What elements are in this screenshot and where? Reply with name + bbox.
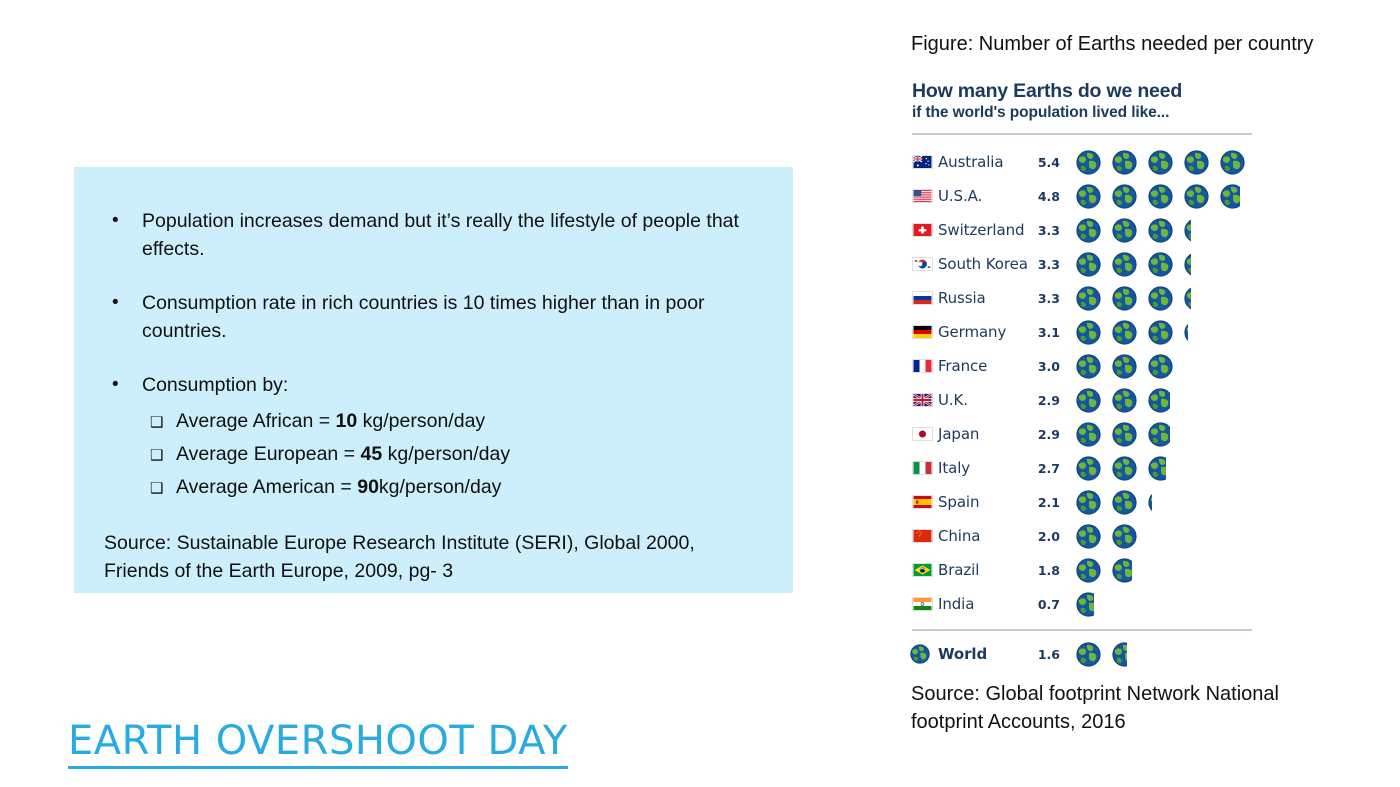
bullet-text: Consumption by: [142, 371, 288, 399]
country-label: U.K. [938, 391, 1030, 409]
earth-globe-icon [1112, 218, 1137, 243]
earth-globe-icon [1112, 150, 1137, 175]
earth-icons [1066, 639, 1256, 669]
country-label: France [938, 357, 1030, 375]
flag-brazil [908, 563, 938, 577]
earth-icons [1066, 453, 1256, 483]
flag-uk [908, 393, 938, 407]
list-item-value: 45 [361, 443, 383, 465]
earth-globe-icon [1148, 286, 1173, 311]
earth-globe-icon [1076, 320, 1101, 345]
earth-icons [1066, 283, 1256, 313]
figure-caption: Figure: Number of Earths needed per coun… [911, 30, 1313, 58]
list-item-label: Average European = [176, 443, 361, 465]
table-row: Germany3.1 [908, 315, 1256, 349]
earth-icons [1066, 385, 1256, 415]
country-value: 3.1 [1030, 325, 1066, 340]
bullet-text: Population increases demand but it’s rea… [142, 207, 742, 263]
country-value: 2.0 [1030, 529, 1066, 544]
earth-globe-icon [1076, 286, 1101, 311]
bullet-marker-icon: • [104, 289, 142, 317]
flag-italy [908, 461, 938, 475]
earth-globe-icon [1076, 490, 1101, 515]
country-rows: Australia5.4U.S.A.4.8Switzerland3.3South… [908, 145, 1256, 621]
earth-globe-icon [1076, 184, 1101, 209]
flag-germany [908, 325, 938, 339]
flag-japan [908, 427, 938, 441]
country-value: 3.3 [1030, 291, 1066, 306]
left-source-citation: Source: Sustainable Europe Research Inst… [104, 529, 744, 585]
country-label: Australia [938, 153, 1030, 171]
earth-globe-icon [1148, 252, 1173, 277]
earth-icons [1066, 555, 1256, 585]
earth-globe-icon [1220, 150, 1245, 175]
flag-india [908, 597, 938, 611]
table-row: Russia3.3 [908, 281, 1256, 315]
earth-icons [1066, 215, 1256, 245]
country-value: 2.7 [1030, 461, 1066, 476]
list-item-text: Average American = 90kg/person/day [176, 473, 501, 501]
country-label: South Korea [938, 255, 1030, 273]
earth-globe-icon [1112, 354, 1137, 379]
earth-icons [1066, 249, 1256, 279]
country-label: Russia [938, 289, 1030, 307]
earth-globe-icon [1112, 388, 1137, 413]
country-value: 2.9 [1030, 427, 1066, 442]
table-row: Japan2.9 [908, 417, 1256, 451]
earth-globe-icon [1112, 524, 1137, 549]
country-value: 5.4 [1030, 155, 1066, 170]
earth-globe-icon [1076, 642, 1101, 667]
earth-globe-icon [1112, 422, 1137, 447]
list-item-value: 90 [357, 476, 379, 498]
country-label: Japan [938, 425, 1030, 443]
flag-south-korea [908, 257, 938, 271]
earth-globe-icon [1112, 320, 1137, 345]
earth-globe-icon [1076, 558, 1101, 583]
country-value: 1.6 [1030, 647, 1066, 662]
flag-australia [908, 155, 938, 169]
infographic-title: How many Earths do we need [908, 80, 1256, 103]
earth-globe-icon-partial [1076, 592, 1094, 617]
earth-icons [1066, 589, 1256, 619]
consumption-sub-list: ❑ Average African = 10 kg/person/day ❑ A… [104, 407, 763, 503]
page-title: EARTH OVERSHOOT DAY [68, 719, 568, 769]
earth-globe-icon [1112, 286, 1137, 311]
list-item-unit: kg/person/day [357, 410, 485, 432]
country-value: 2.1 [1030, 495, 1066, 510]
table-row: India0.7 [908, 587, 1256, 621]
earth-globe-icon [1076, 422, 1101, 447]
table-row: U.K.2.9 [908, 383, 1256, 417]
flag-china [908, 529, 938, 543]
country-label: U.S.A. [938, 187, 1030, 205]
list-item-label: Average American = [176, 476, 357, 498]
flag-russia [908, 291, 938, 305]
bullet-item: • Consumption by: [104, 371, 763, 399]
earth-globe-icon-partial [1184, 286, 1191, 311]
country-label: China [938, 527, 1030, 545]
table-row: China2.0 [908, 519, 1256, 553]
bullet-text: Consumption rate in rich countries is 10… [142, 289, 742, 345]
flag-usa [908, 189, 938, 203]
country-value: 0.7 [1030, 597, 1066, 612]
earth-globe-icon [1148, 218, 1173, 243]
country-label: India [938, 595, 1030, 613]
earth-globe-icon-partial [1184, 218, 1191, 243]
earth-icons [1066, 521, 1256, 551]
earth-globe-icon-partial [1112, 558, 1132, 583]
earth-globe-icon [1148, 320, 1173, 345]
list-item-unit: kg/person/day [379, 476, 502, 498]
earths-needed-infographic: How many Earths do we need if the world'… [908, 80, 1256, 671]
table-row: Brazil1.8 [908, 553, 1256, 587]
earth-globe-icon [1112, 456, 1137, 481]
earth-globe-icon-partial [1184, 252, 1191, 277]
right-source-citation: Source: Global footprint Network Nationa… [911, 680, 1341, 736]
earth-globe-icon [1076, 150, 1101, 175]
earth-globe-icon [1148, 150, 1173, 175]
earth-icons [1066, 181, 1256, 211]
earth-icons [1066, 419, 1256, 449]
earth-icons [1066, 317, 1256, 347]
earth-globe-icon [1184, 184, 1209, 209]
earth-icons [1066, 351, 1256, 381]
table-row: Spain2.1 [908, 485, 1256, 519]
earth-icons [1066, 487, 1256, 517]
country-label: Switzerland [938, 221, 1030, 239]
earth-globe-icon [1112, 252, 1137, 277]
bullet-marker-icon: • [104, 371, 142, 399]
earth-globe-icon-partial [1148, 490, 1152, 515]
earth-globe-icon [1148, 354, 1173, 379]
earth-globe-icon [1184, 150, 1209, 175]
flag-spain [908, 495, 938, 509]
country-label: Germany [938, 323, 1030, 341]
earth-icons [1066, 147, 1256, 177]
list-item-unit: kg/person/day [382, 443, 510, 465]
earth-globe-icon [1076, 456, 1101, 481]
earth-globe-icon [1112, 184, 1137, 209]
country-label: World [938, 645, 1030, 663]
table-row: U.S.A.4.8 [908, 179, 1256, 213]
table-row: Italy2.7 [908, 451, 1256, 485]
earth-globe-icon [1112, 490, 1137, 515]
earth-globe-icon-partial [1148, 388, 1170, 413]
earth-globe-icon [1148, 184, 1173, 209]
flag-switzerland [908, 223, 938, 237]
country-value: 3.0 [1030, 359, 1066, 374]
list-item-value: 10 [336, 410, 358, 432]
checkbox-icon: ❑ [104, 442, 176, 470]
earth-globe-icon-partial [1184, 320, 1188, 345]
earth-globe-icon [1076, 388, 1101, 413]
flag-france [908, 359, 938, 373]
table-row: France3.0 [908, 349, 1256, 383]
earth-globe-icon [1076, 524, 1101, 549]
earth-globe-icon [1076, 252, 1101, 277]
list-item-text: Average European = 45 kg/person/day [176, 440, 510, 468]
world-row: World 1.6 [908, 637, 1256, 671]
infographic-subtitle: if the world's population lived like... [908, 103, 1256, 123]
list-item: ❑ Average American = 90kg/person/day [104, 473, 763, 503]
list-item-label: Average African = [176, 410, 336, 432]
divider [912, 629, 1252, 631]
list-item-text: Average African = 10 kg/person/day [176, 407, 485, 435]
table-row: South Korea3.3 [908, 247, 1256, 281]
table-row: Australia5.4 [908, 145, 1256, 179]
country-label: Spain [938, 493, 1030, 511]
list-item: ❑ Average African = 10 kg/person/day [104, 407, 763, 437]
country-value: 3.3 [1030, 257, 1066, 272]
bullet-marker-icon: • [104, 207, 142, 235]
country-value: 1.8 [1030, 563, 1066, 578]
earth-globe-icon [1076, 354, 1101, 379]
checkbox-icon: ❑ [104, 475, 176, 503]
divider [912, 133, 1252, 135]
country-label: Brazil [938, 561, 1030, 579]
list-item: ❑ Average European = 45 kg/person/day [104, 440, 763, 470]
bullet-item: • Population increases demand but it’s r… [104, 207, 763, 263]
country-value: 3.3 [1030, 223, 1066, 238]
table-row: Switzerland3.3 [908, 213, 1256, 247]
earth-globe-icon [1076, 218, 1101, 243]
country-label: Italy [938, 459, 1030, 477]
earth-globe-icon-partial [1220, 184, 1240, 209]
country-value: 2.9 [1030, 393, 1066, 408]
content-callout-box: • Population increases demand but it’s r… [74, 167, 793, 593]
earth-globe-icon-partial [1112, 642, 1127, 667]
checkbox-icon: ❑ [104, 409, 176, 437]
bullet-item: • Consumption rate in rich countries is … [104, 289, 763, 345]
earth-globe-icon [908, 644, 938, 664]
earth-globe-icon-partial [1148, 456, 1166, 481]
earth-globe-icon-partial [1148, 422, 1170, 447]
country-value: 4.8 [1030, 189, 1066, 204]
